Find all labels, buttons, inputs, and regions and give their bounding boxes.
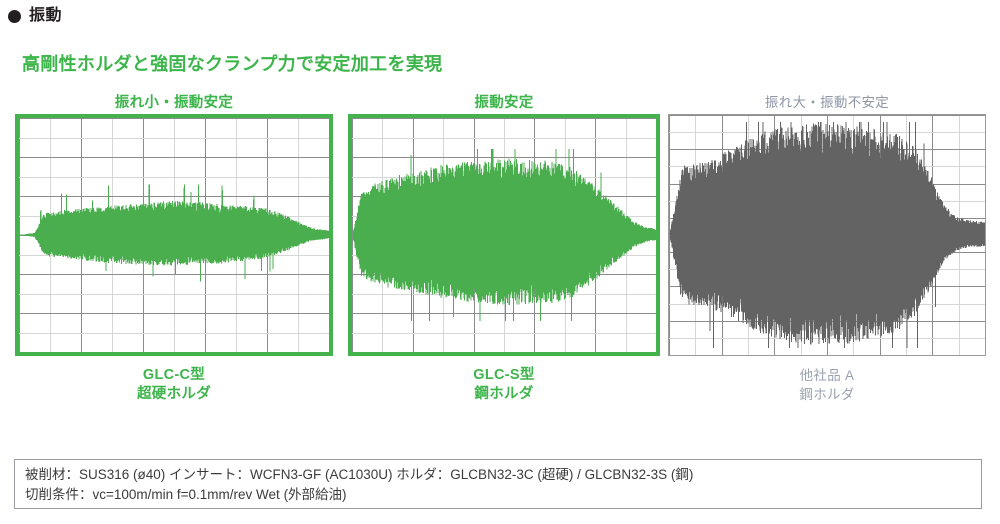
chart-caption-line2: 鋼ホルダ [668, 385, 986, 404]
chart-caption-line2: 超硬ホルダ [15, 385, 333, 404]
waveform-plot-glc-s [352, 118, 656, 352]
chart-block-other-a: 振れ大・振動不安定 他社品 A 鋼ホルダ [668, 92, 986, 404]
subtitle: 高剛性ホルダと強固なクランプ力で安定加工を実現 [22, 50, 442, 76]
chart-caption-line2: 鋼ホルダ [348, 385, 660, 404]
conditions-note-box: 被削材：SUS316 (ø40) インサート：WCFN3-GF (AC1030U… [14, 459, 982, 509]
oscilloscope-frame-glc-s [348, 114, 660, 356]
charts-row: 振れ小・振動安定 GLC-C型 超硬ホルダ 振動安定 GLC-S型 鋼ホルダ 振… [0, 92, 1000, 422]
conditions-line-cutting: 切削条件：vc=100m/min f=0.1mm/rev Wet (外部給油) [25, 485, 971, 505]
page-title: 振動 [29, 8, 62, 24]
chart-caption-other-a: 他社品 A 鋼ホルダ [668, 356, 986, 404]
oscilloscope-frame-glc-c [15, 114, 333, 356]
chart-title-glc-s: 振動安定 [348, 92, 660, 114]
chart-block-glc-s: 振動安定 GLC-S型 鋼ホルダ [348, 92, 660, 404]
oscilloscope-frame-other-a [668, 114, 986, 356]
chart-caption-line1: GLC-S型 [348, 366, 660, 385]
chart-block-glc-c: 振れ小・振動安定 GLC-C型 超硬ホルダ [15, 92, 333, 404]
section-header: 振動 [8, 8, 62, 24]
chart-caption-glc-s: GLC-S型 鋼ホルダ [348, 356, 660, 404]
filled-circle-icon [8, 10, 21, 23]
chart-caption-line1: 他社品 A [668, 366, 986, 385]
waveform-plot-glc-c [19, 118, 329, 352]
chart-title-glc-c: 振れ小・振動安定 [15, 92, 333, 114]
conditions-line-material: 被削材：SUS316 (ø40) インサート：WCFN3-GF (AC1030U… [25, 465, 971, 485]
chart-caption-line1: GLC-C型 [15, 366, 333, 385]
waveform-plot-other-a [669, 115, 985, 355]
chart-caption-glc-c: GLC-C型 超硬ホルダ [15, 356, 333, 404]
chart-title-other-a: 振れ大・振動不安定 [668, 92, 986, 114]
